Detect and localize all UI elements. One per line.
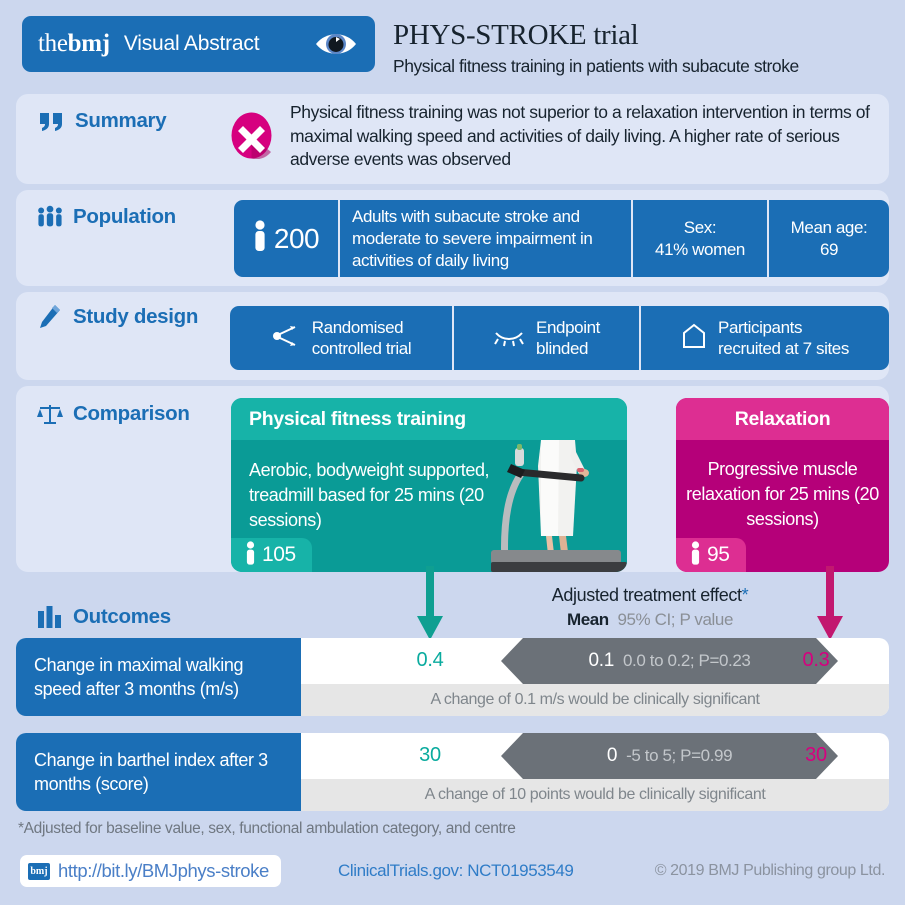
outcome-note: A change of 0.1 m/s would be clinically … bbox=[430, 691, 759, 709]
intervention-arrow-icon bbox=[417, 566, 443, 647]
summary-text: Physical fitness training was not superi… bbox=[290, 101, 890, 172]
control-card: Relaxation Progressive muscle relaxation… bbox=[676, 398, 889, 572]
intervention-description: Aerobic, bodyweight supported, treadmill… bbox=[249, 458, 511, 533]
outcome-row: Change in barthel index after 3 months (… bbox=[16, 733, 889, 811]
url-text[interactable]: http://bit.ly/BMJphys-stroke bbox=[58, 860, 269, 882]
outcome-mean: 0 bbox=[607, 745, 617, 767]
url-chip[interactable]: bmj http://bit.ly/BMJphys-stroke bbox=[20, 855, 281, 887]
intervention-title: Physical fitness training bbox=[231, 398, 627, 440]
outcome-values: 0.4 0.1 0.0 to 0.2; P=0.23 0.3 A change … bbox=[301, 638, 889, 716]
outcome-mean: 0.1 bbox=[588, 650, 614, 672]
cross-badge-icon bbox=[228, 112, 275, 159]
study-design-item-text: Participantsrecruited at 7 sites bbox=[718, 317, 849, 359]
intervention-count: 105 bbox=[262, 543, 296, 567]
bar-chart-icon bbox=[36, 603, 64, 631]
bmj-logo: thebmj bbox=[38, 30, 110, 58]
population-strip: 200 Adults with subacute stroke and mode… bbox=[234, 200, 889, 277]
scales-icon bbox=[36, 400, 64, 428]
outcome-control-value: 30 bbox=[787, 744, 845, 767]
population-sex-value: 41% women bbox=[655, 239, 745, 261]
clinicaltrials-link[interactable]: ClinicalTrials.gov: NCT01953549 bbox=[338, 861, 573, 881]
population-label-text: Population bbox=[73, 205, 176, 229]
person-icon bbox=[690, 541, 701, 570]
outcome-name: Change in maximal walking speed after 3 … bbox=[34, 653, 283, 701]
visual-abstract-page: thebmj Visual Abstract PHYS-STROKE trial… bbox=[0, 0, 905, 905]
comparison-section-label: Comparison bbox=[36, 400, 190, 428]
visual-abstract-label: Visual Abstract bbox=[124, 32, 260, 56]
person-icon bbox=[245, 541, 256, 570]
population-count: 200 bbox=[274, 223, 319, 255]
intervention-body: Aerobic, bodyweight supported, treadmill… bbox=[231, 440, 627, 572]
outcome-control-value: 0.3 bbox=[787, 649, 845, 672]
control-arrow-icon bbox=[817, 566, 843, 647]
randomise-icon bbox=[271, 322, 301, 355]
control-title: Relaxation bbox=[676, 398, 889, 440]
control-body: Progressive muscle relaxation for 25 min… bbox=[676, 440, 889, 572]
hospital-icon bbox=[681, 323, 707, 354]
study-design-item-text: Endpointblinded bbox=[536, 317, 600, 359]
adjusted-treatment-effect-title: Adjusted treatment effect* bbox=[505, 585, 795, 606]
population-section-label: Population bbox=[36, 203, 176, 231]
control-count: 95 bbox=[707, 543, 730, 567]
population-sex-cell: Sex: 41% women bbox=[631, 200, 767, 277]
trial-title: PHYS-STROKE trial bbox=[393, 19, 638, 52]
outcome-name: Change in barthel index after 3 months (… bbox=[34, 748, 283, 796]
trial-subtitle: Physical fitness training in patients wi… bbox=[393, 56, 799, 77]
pencil-icon bbox=[36, 303, 64, 331]
summary-section-label: Summary bbox=[38, 107, 166, 135]
outcome-ci: -5 to 5; P=0.99 bbox=[626, 746, 732, 766]
copyright: © 2019 BMJ Publishing group Ltd. bbox=[655, 862, 885, 880]
outcome-values-row: 30 0 -5 to 5; P=0.99 30 bbox=[301, 733, 889, 779]
outcome-note: A change of 10 points would be clinicall… bbox=[425, 786, 766, 804]
population-age-value: 69 bbox=[820, 239, 838, 261]
population-age-cell: Mean age: 69 bbox=[767, 200, 889, 277]
intervention-count-pill: 105 bbox=[231, 538, 312, 572]
population-description: Adults with subacute stroke and moderate… bbox=[352, 206, 619, 272]
study-design-item-randomised: Randomisedcontrolled trial bbox=[230, 306, 452, 370]
population-count-cell: 200 bbox=[234, 200, 338, 277]
outcome-ci: 0.0 to 0.2; P=0.23 bbox=[623, 651, 751, 671]
control-description: Progressive muscle relaxation for 25 min… bbox=[684, 457, 881, 532]
outcome-note-row: A change of 0.1 m/s would be clinically … bbox=[301, 684, 889, 716]
eye-icon bbox=[313, 29, 359, 59]
outcomes-section-label: Outcomes bbox=[36, 603, 171, 631]
header: thebmj Visual Abstract PHYS-STROKE trial… bbox=[0, 0, 905, 88]
quote-icon bbox=[38, 107, 66, 135]
study-design-item-blinded: Endpointblinded bbox=[452, 306, 639, 370]
person-icon bbox=[253, 220, 267, 257]
adjusted-treatment-effect-subtitle: Mean 95% CI; P value bbox=[505, 610, 795, 630]
bmj-brand-bar: thebmj Visual Abstract bbox=[22, 16, 375, 72]
outcome-name-cell: Change in maximal walking speed after 3 … bbox=[16, 638, 301, 716]
summary-label-text: Summary bbox=[75, 109, 166, 133]
population-sex-label: Sex: bbox=[684, 217, 716, 239]
outcome-name-cell: Change in barthel index after 3 months (… bbox=[16, 733, 301, 811]
intervention-card: Physical fitness training bbox=[231, 398, 627, 572]
outcome-intervention-value: 30 bbox=[401, 744, 459, 767]
outcome-intervention-value: 0.4 bbox=[401, 649, 459, 672]
outcomes-label-text: Outcomes bbox=[73, 605, 171, 629]
study-design-label-text: Study design bbox=[73, 305, 198, 329]
outcome-row: Change in maximal walking speed after 3 … bbox=[16, 638, 889, 716]
study-design-item-sites: Participantsrecruited at 7 sites bbox=[639, 306, 889, 370]
population-description-cell: Adults with subacute stroke and moderate… bbox=[338, 200, 631, 277]
population-age-label: Mean age: bbox=[791, 217, 868, 239]
people-icon bbox=[36, 203, 64, 231]
comparison-label-text: Comparison bbox=[73, 402, 190, 426]
control-count-pill: 95 bbox=[676, 538, 746, 572]
outcome-values-row: 0.4 0.1 0.0 to 0.2; P=0.23 0.3 bbox=[301, 638, 889, 684]
study-design-section-label: Study design bbox=[36, 303, 198, 331]
bmj-mini-logo-icon: bmj bbox=[28, 863, 50, 880]
footnote: *Adjusted for baseline value, sex, funct… bbox=[18, 820, 516, 838]
study-design-item-text: Randomisedcontrolled trial bbox=[312, 317, 411, 359]
closed-eye-icon bbox=[493, 325, 525, 352]
outcome-values: 30 0 -5 to 5; P=0.99 30 A change of 10 p… bbox=[301, 733, 889, 811]
outcome-note-row: A change of 10 points would be clinicall… bbox=[301, 779, 889, 811]
study-design-strip: Randomisedcontrolled trial Endpointblind… bbox=[230, 306, 889, 370]
